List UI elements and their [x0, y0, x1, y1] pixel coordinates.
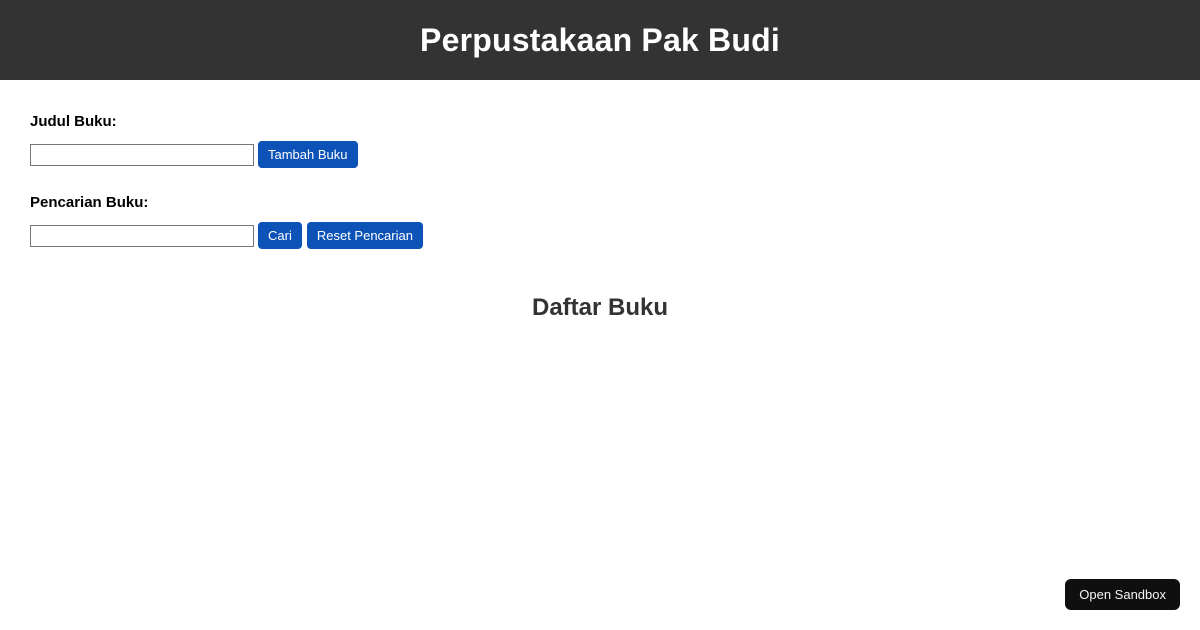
- search-input[interactable]: [30, 225, 254, 247]
- search-button[interactable]: Cari: [258, 222, 302, 249]
- search-book-row: Cari Reset Pencarian: [30, 222, 1170, 249]
- search-book-label: Pencarian Buku:: [30, 195, 1170, 210]
- main-content: Judul Buku: Tambah Buku Pencarian Buku: …: [0, 80, 1200, 523]
- page-title: Perpustakaan Pak Budi: [420, 24, 780, 56]
- book-list: [30, 323, 1170, 523]
- book-list-section: Daftar Buku: [30, 294, 1170, 523]
- add-book-button[interactable]: Tambah Buku: [258, 141, 358, 168]
- search-book-form: Pencarian Buku: Cari Reset Pencarian: [30, 168, 1170, 249]
- add-book-label: Judul Buku:: [30, 114, 1170, 129]
- book-list-heading: Daftar Buku: [30, 294, 1170, 323]
- add-book-form: Judul Buku: Tambah Buku: [30, 80, 1170, 168]
- open-sandbox-button[interactable]: Open Sandbox: [1065, 579, 1180, 610]
- app-header: Perpustakaan Pak Budi: [0, 0, 1200, 80]
- reset-search-button[interactable]: Reset Pencarian: [307, 222, 423, 249]
- book-title-input[interactable]: [30, 144, 254, 166]
- add-book-row: Tambah Buku: [30, 141, 1170, 168]
